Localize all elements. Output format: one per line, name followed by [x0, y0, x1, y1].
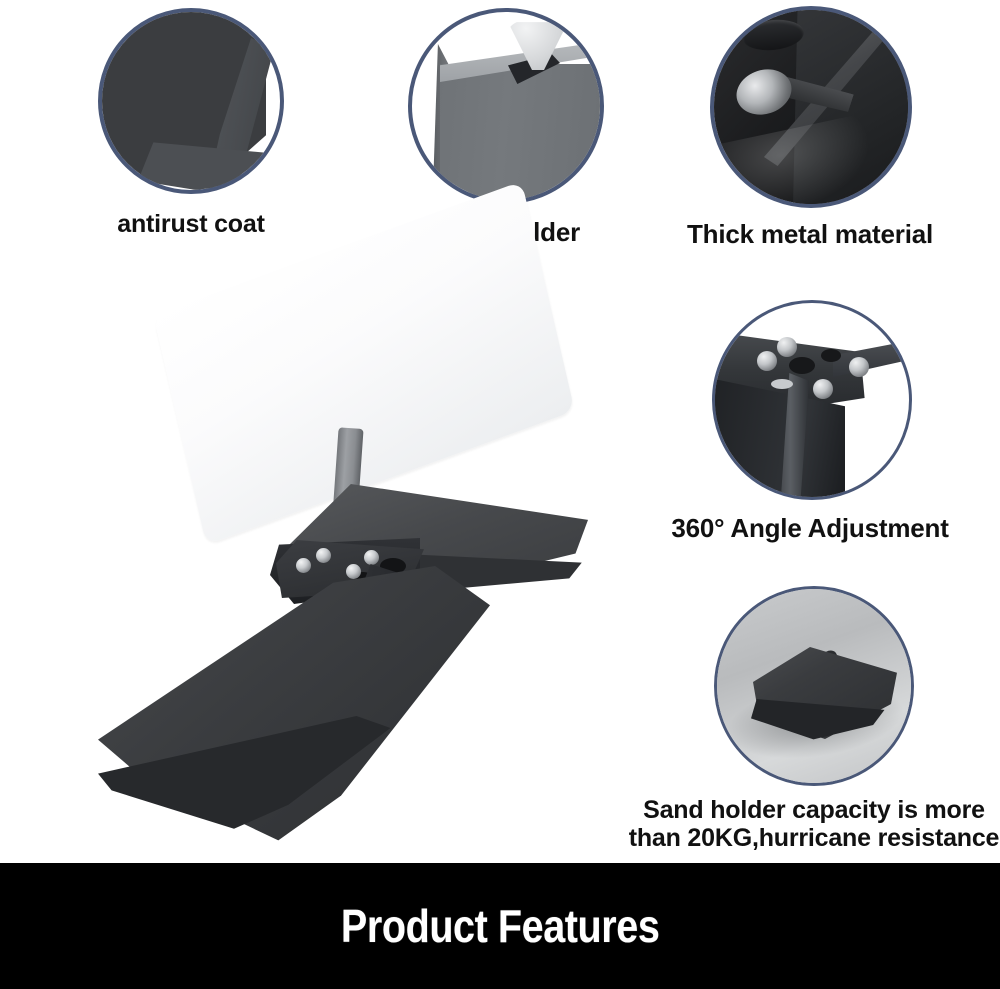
feature-image-sand-holder-capacity: [714, 586, 914, 786]
feature-antirust-coat: antirust coat: [98, 8, 336, 238]
hinge-pivot-bolt: [849, 357, 869, 377]
hinge-bolt-1: [757, 351, 777, 371]
feature-image-antirust-coat: [98, 8, 284, 194]
feature-caption-thick-metal-material: Thick metal material: [650, 220, 970, 249]
hinge-slot: [771, 379, 793, 389]
hinge-hole-large: [789, 357, 815, 374]
base-hinge-bolt-4: [346, 564, 361, 579]
hinge-leg-bolt: [813, 379, 833, 399]
hinge-arm-shape: [833, 337, 912, 377]
sand-holder-body-shape: [440, 64, 604, 204]
product-features-infographic: antirust coat Sand holder Thick metal ma…: [0, 0, 1000, 989]
feature-image-thick-metal-material: [710, 6, 912, 208]
feature-sand-holder-capacity: Sand holder capacity is more than 20KG,h…: [714, 586, 1000, 852]
feature-image-angle-adjustment: [712, 300, 912, 500]
feature-caption-angle-adjustment: 360° Angle Adjustment: [640, 514, 980, 543]
feature-caption-antirust-coat: antirust coat: [46, 210, 336, 238]
feature-image-sand-holder: [408, 8, 604, 204]
bottom-banner: Product Features: [0, 863, 1000, 989]
base-hinge-bolt-1: [316, 548, 331, 563]
hero-product-image: [80, 246, 610, 856]
feature-thick-metal-material: Thick metal material: [710, 6, 970, 249]
banner-title: Product Features: [341, 899, 659, 953]
base-hinge-bolt-3: [364, 550, 379, 565]
base-hinge-bolt-2: [296, 558, 311, 573]
hinge-bolt-2: [777, 337, 797, 357]
hinge-hole-small: [821, 349, 841, 362]
feature-caption-sand-holder-capacity: Sand holder capacity is more than 20KG,h…: [614, 796, 1000, 852]
feature-angle-adjustment: 360° Angle Adjustment: [712, 300, 980, 543]
